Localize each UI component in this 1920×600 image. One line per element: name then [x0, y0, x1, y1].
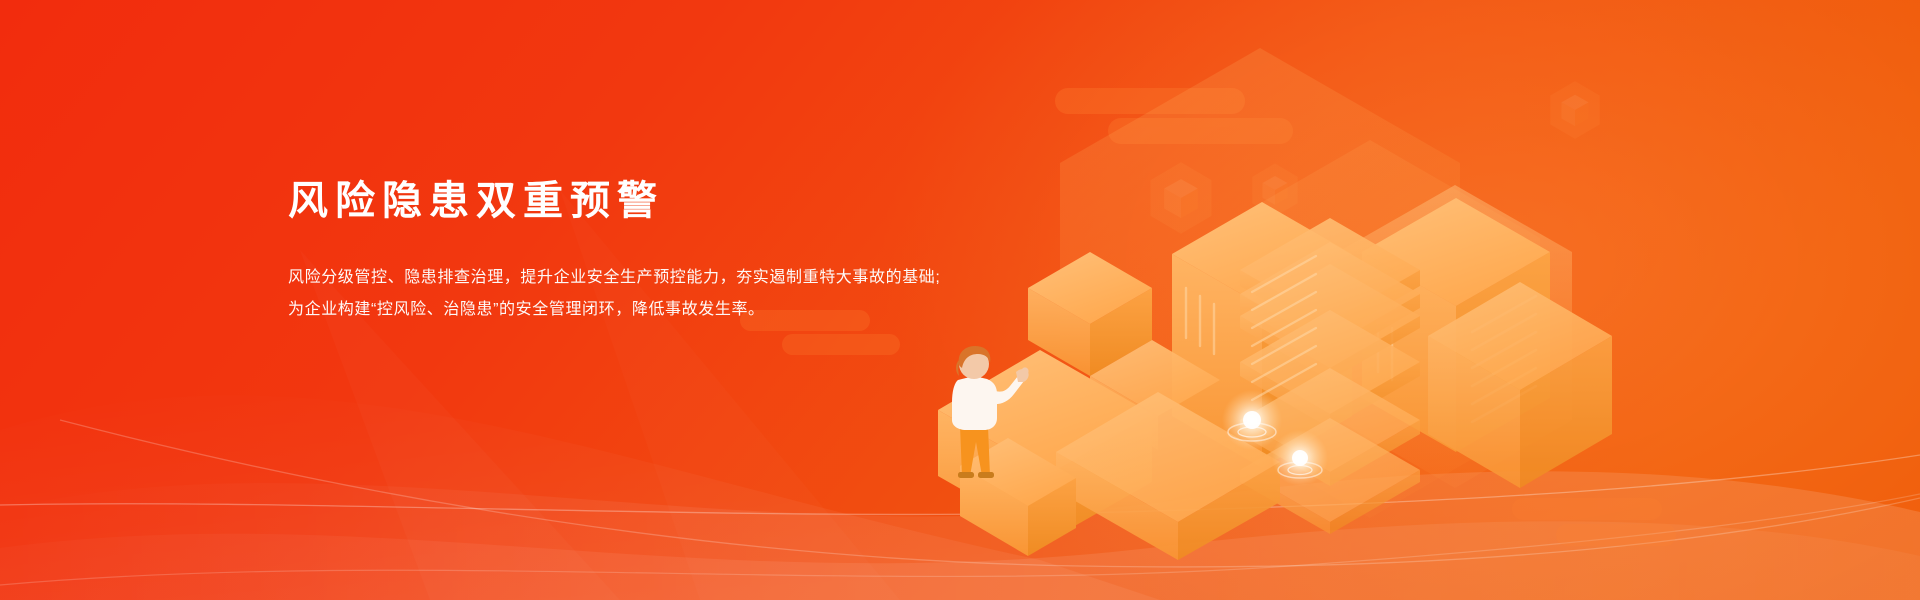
page-subtitle: 风险分级管控、隐患排查治理，提升企业安全生产预控能力，夯实遏制重特大事故的基础;…	[288, 226, 988, 326]
glow-dot	[1222, 390, 1282, 450]
glow-dot	[1272, 430, 1328, 486]
page-title: 风险隐患双重预警	[288, 176, 988, 226]
subtitle-line-1: 风险分级管控、隐患排查治理，提升企业安全生产预控能力，夯实遏制重特大事故的基础;	[288, 262, 988, 294]
hero-banner: 风险隐患双重预警 风险分级管控、隐患排查治理，提升企业安全生产预控能力，夯实遏制…	[0, 0, 1920, 600]
hero-copy: 风险隐患双重预警 风险分级管控、隐患排查治理，提升企业安全生产预控能力，夯实遏制…	[288, 176, 988, 326]
subtitle-line-2: 为企业构建“控风险、治隐患”的安全管理闭环，降低事故发生率。	[288, 294, 988, 326]
isometric-data-center-illustration	[900, 20, 1620, 580]
